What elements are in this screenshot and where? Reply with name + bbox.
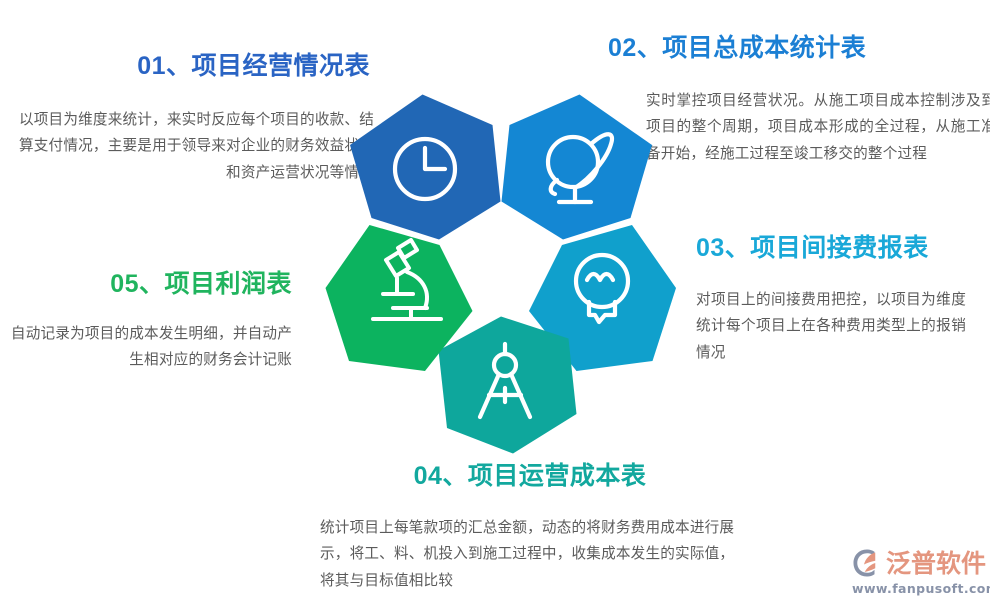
section-04-title: 04、项目运营成本表 <box>305 462 755 491</box>
section-05-title: 05、项目利润表 <box>0 270 292 299</box>
hexagon-02[interactable] <box>502 95 653 240</box>
section-05: 05、项目利润表 自动记录为项目的成本发生明细，并自动产生相对应的财务会计记账 <box>0 270 300 374</box>
section-03-title: 03、项目间接费报表 <box>696 234 990 263</box>
section-03: 03、项目间接费报表 对项目上的间接费用把控，以项目为维度统计每个项目上在各种费… <box>696 234 990 366</box>
section-02-body: 实时掌控项目经营状况。从施工项目成本控制涉及到项目的整个周期，项目成本形成的全过… <box>646 88 990 168</box>
hexagon-cluster <box>323 82 679 454</box>
logo-row: 泛普软件 <box>852 548 988 578</box>
section-01-title: 01、项目经营情况表 <box>0 52 370 81</box>
company-logo: 泛普软件 www.fanpusoft.com <box>852 548 988 602</box>
section-04: 04、项目运营成本表 统计项目上每笔款项的汇总金额，动态的将财务费用成本进行展示… <box>305 462 755 594</box>
logo-name: 泛普软件 <box>886 551 986 576</box>
section-03-body: 对项目上的间接费用把控，以项目为维度统计每个项目上在各种费用类型上的报销情况 <box>696 287 966 367</box>
fanpu-logo-mark <box>852 548 882 578</box>
hexagon-04[interactable] <box>439 317 577 454</box>
hexagon-01[interactable] <box>350 95 501 240</box>
section-02-title: 02、项目总成本统计表 <box>608 34 990 63</box>
infographic-canvas: 01、项目经营情况表 以项目为维度来统计，来实时反应每个项目的收款、结算支付情况… <box>0 0 990 608</box>
logo-url: www.fanpusoft.com <box>852 581 988 596</box>
section-05-body: 自动记录为项目的成本发生明细，并自动产生相对应的财务会计记账 <box>0 321 292 374</box>
section-01-body: 以项目为维度来统计，来实时反应每个项目的收款、结算支付情况，主要是用于领导来对企… <box>8 107 374 187</box>
hexagon-02-shape[interactable] <box>502 95 653 240</box>
hexagon-04-shape[interactable] <box>439 317 577 454</box>
section-04-body: 统计项目上每笔款项的汇总金额，动态的将财务费用成本进行展示，将工、料、机投入到施… <box>320 515 740 595</box>
